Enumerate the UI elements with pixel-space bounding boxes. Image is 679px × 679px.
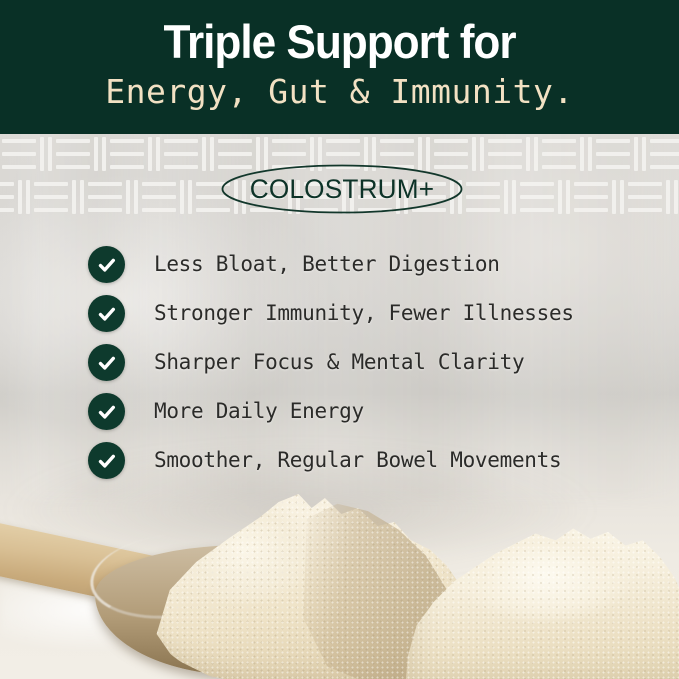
check-icon xyxy=(88,393,125,430)
list-item-label: Less Bloat, Better Digestion xyxy=(154,248,500,281)
page-title: Triple Support for xyxy=(20,17,658,66)
colostrum-badge: COLOSTRUM+ xyxy=(221,164,463,214)
list-item-label: Smoother, Regular Bowel Movements xyxy=(154,444,561,477)
check-icon xyxy=(88,295,125,332)
pattern-unit xyxy=(140,178,194,216)
pattern-unit xyxy=(626,178,679,216)
list-item-label: Sharper Focus & Mental Clarity xyxy=(154,346,524,379)
benefit-list: Less Bloat, Better Digestion Stronger Im… xyxy=(0,246,679,491)
pattern-unit xyxy=(32,178,86,216)
pattern-unit xyxy=(0,135,54,173)
pattern-unit xyxy=(594,135,648,173)
pattern-unit xyxy=(54,135,108,173)
pattern-unit xyxy=(518,178,572,216)
page-subtitle: Energy, Gut & Immunity. xyxy=(0,74,679,110)
check-icon xyxy=(88,246,125,283)
pattern-unit xyxy=(648,135,679,173)
badge-label: COLOSTRUM+ xyxy=(225,164,460,214)
product-benefits-infographic: Triple Support for Energy, Gut & Immunit… xyxy=(0,0,679,679)
pattern-unit xyxy=(86,178,140,216)
header-band: Triple Support for Energy, Gut & Immunit… xyxy=(0,0,679,134)
list-item: Smoother, Regular Bowel Movements xyxy=(0,442,679,491)
pattern-unit xyxy=(108,135,162,173)
pattern-unit xyxy=(540,135,594,173)
list-item: More Daily Energy xyxy=(0,393,679,442)
check-icon xyxy=(88,442,125,479)
pattern-unit xyxy=(162,135,216,173)
pattern-unit xyxy=(464,178,518,216)
check-icon xyxy=(88,344,125,381)
pattern-unit xyxy=(572,178,626,216)
list-item: Stronger Immunity, Fewer Illnesses xyxy=(0,295,679,344)
list-item-label: Stronger Immunity, Fewer Illnesses xyxy=(154,297,574,330)
pattern-unit xyxy=(0,178,32,216)
list-item-label: More Daily Energy xyxy=(154,395,364,428)
pattern-unit xyxy=(486,135,540,173)
list-item: Less Bloat, Better Digestion xyxy=(0,246,679,295)
list-item: Sharper Focus & Mental Clarity xyxy=(0,344,679,393)
